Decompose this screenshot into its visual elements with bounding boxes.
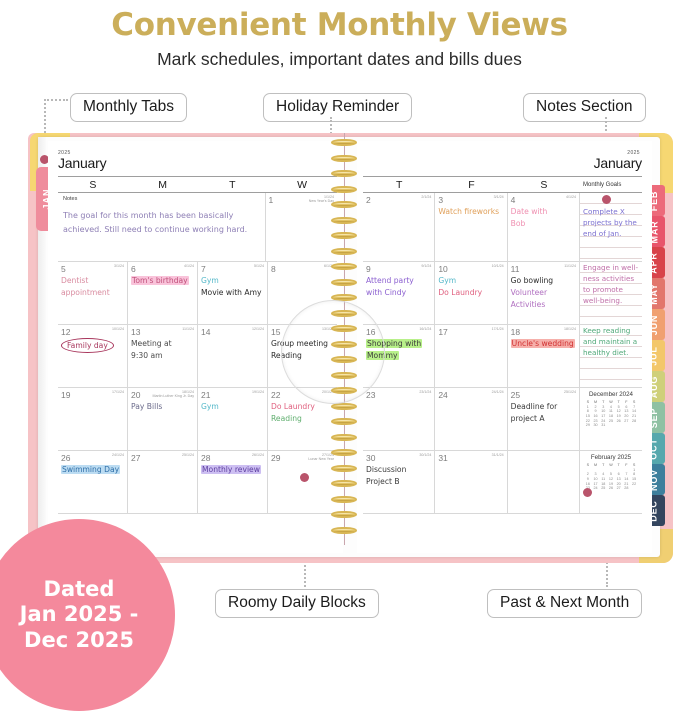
mini-day	[615, 423, 623, 428]
mini-calendar-row: 293031	[584, 423, 638, 428]
lunar-date-and-holiday: 4/1/24	[184, 264, 194, 268]
event-entry: 9:30 am	[131, 350, 194, 361]
lunar-date-and-holiday: 3/1/24	[494, 195, 504, 199]
lunar-date-and-holiday: 3/1/24	[114, 264, 124, 268]
event-entry: Gym	[438, 275, 503, 286]
day-cell[interactable]: 22/1/24	[363, 193, 435, 261]
spiral-ring	[331, 449, 357, 456]
monthly-goals-block[interactable]: Engage in well-ness activitiesto promote…	[580, 262, 642, 324]
lunar-date-and-holiday: 11/1/24	[564, 264, 576, 268]
lunar-date-and-holiday: 26/1/24	[252, 453, 264, 457]
mini-calendar-title: February 2025	[584, 454, 638, 461]
spiral-ring	[331, 496, 357, 503]
event-entry: Discussion	[366, 464, 431, 475]
callout-monthly-tabs: Monthly Tabs	[70, 93, 187, 122]
spiral-ring	[331, 418, 357, 425]
day-cell[interactable]: 2927/1/24Lunar New Year	[268, 451, 337, 513]
badge-line-3: Dec 2025	[20, 628, 139, 653]
lunar-date-and-holiday: 30/1/24	[419, 453, 431, 457]
event-entry: project A	[511, 413, 576, 424]
mini-day: 27	[615, 486, 623, 491]
event-entry: Uncle's wedding	[511, 338, 576, 349]
day-cell[interactable]: 75/1/24GymMovie with Amy	[198, 262, 268, 324]
monthly-goals-header: Monthly Goals	[580, 177, 642, 192]
spiral-ring	[331, 511, 357, 518]
event-entry: Group meeting	[271, 338, 334, 349]
day-cell[interactable]: 1311/1/24Meeting at9:30 am	[128, 325, 198, 387]
event-entry: Do Laundry	[271, 401, 334, 412]
lunar-date-and-holiday: 2/1/24	[421, 195, 431, 199]
dow-T: T	[363, 177, 435, 192]
day-cell[interactable]: 2725/1/24	[128, 451, 198, 513]
event-entry: Swimming Day	[61, 464, 124, 475]
callout-notes-section: Notes Section	[523, 93, 646, 122]
lunar-date-and-holiday: 25/1/24	[182, 453, 194, 457]
goal-text: Complete Xprojects by theend of Jan.	[583, 206, 640, 239]
lunar-date-and-holiday: 10/1/24	[492, 264, 504, 268]
calendar-week-row: 1616/1/24Shopping withMommy1717/1/241818…	[363, 325, 642, 388]
dow-S: S	[508, 177, 580, 192]
mini-calendar-row: 232425262728	[584, 486, 638, 491]
day-cell[interactable]: 2826/1/24Monthly review	[198, 451, 268, 513]
day-cell[interactable]	[508, 451, 580, 513]
page-subtitle: Mark schedules, important dates and bill…	[0, 49, 679, 70]
calendar-right-page: 2025 January TFSMonthly Goals 22/1/2433/…	[357, 141, 652, 553]
calendar-week-row: 22/1/2433/1/24Watch fireworks44/1/24Date…	[363, 193, 642, 262]
mini-day: 26	[607, 486, 615, 491]
badge-line-1: Dated	[20, 577, 139, 602]
callout-roomy-daily-blocks: Roomy Daily Blocks	[215, 589, 379, 618]
spiral-ring	[331, 527, 357, 534]
mini-day	[623, 423, 631, 428]
event-entry: Date with	[511, 206, 576, 217]
day-cell[interactable]: 44/1/24Date withBob	[508, 193, 580, 261]
day-cell[interactable]: 1210/1/24Family day	[58, 325, 128, 387]
calendar-week-row: 1210/1/24Family day1311/1/24Meeting at9:…	[58, 325, 337, 388]
spiral-ring	[331, 155, 357, 162]
event-entry: Gym	[201, 275, 264, 286]
spiral-ring	[331, 186, 357, 193]
right-dow-header: TFSMonthly Goals	[363, 176, 642, 193]
day-cell[interactable]: 1010/1/24GymDo Laundry	[435, 262, 507, 324]
mini-day: 31	[599, 423, 607, 428]
day-cell[interactable]: 53/1/24Dentistappointment	[58, 262, 128, 324]
spiral-ring	[331, 310, 357, 317]
right-page-header: 2025 January	[363, 150, 642, 176]
day-cell[interactable]: 2018/1/24Martin Luther King Jr. DayPay B…	[128, 388, 198, 450]
right-calendar-grid: 22/1/2433/1/24Watch fireworks44/1/24Date…	[363, 193, 642, 514]
mini-calendar: December 2024SMTWTFS12345678910111213141…	[580, 388, 642, 430]
event-entry: Mommy	[366, 350, 431, 361]
event-entry: Dentist	[61, 275, 124, 286]
spiral-ring	[331, 139, 357, 146]
spiral-ring	[331, 387, 357, 394]
event-entry: Go bowling	[511, 275, 576, 286]
spiral-ring	[331, 294, 357, 301]
right-page-month: January	[363, 156, 642, 171]
spiral-ring	[331, 248, 357, 255]
event-entry: Do Laundry	[438, 287, 503, 298]
mini-calendar-block[interactable]: December 2024SMTWTFS12345678910111213141…	[580, 388, 642, 450]
left-page-month: January	[58, 156, 337, 171]
day-cell[interactable]: 86/1/24	[268, 262, 337, 324]
day-cell[interactable]: 2525/1/24Deadline forproject A	[508, 388, 580, 450]
lunar-date-and-holiday: 18/1/24Martin Luther King Jr. Day	[152, 390, 194, 399]
calendar-week-row: 99/1/24Attend partywith Cindy1010/1/24Gy…	[363, 262, 642, 325]
calendar-week-row: 53/1/24Dentistappointment64/1/24Tom's bi…	[58, 262, 337, 325]
calendar-week-row: 3030/1/24DiscussionProject B3131/1/24Feb…	[363, 451, 642, 514]
event-entry: Volunteer	[511, 287, 576, 298]
day-cell[interactable]: 3030/1/24DiscussionProject B	[363, 451, 435, 513]
lunar-date-and-holiday: 17/1/24	[112, 390, 124, 394]
day-cell[interactable]: 99/1/24Attend partywith Cindy	[363, 262, 435, 324]
event-entry: Deadline for	[511, 401, 576, 412]
mini-calendar: February 2025SMTWTFS12345678910111213141…	[580, 451, 642, 493]
event-entry: Movie with Amy	[201, 287, 264, 298]
dow-M: M	[128, 177, 198, 192]
event-entry: with Cindy	[366, 287, 431, 298]
spiral-ring	[331, 325, 357, 332]
mini-day	[630, 423, 638, 428]
mini-calendar-title: December 2024	[584, 391, 638, 398]
event-entry: Project B	[366, 476, 431, 487]
lunar-date-and-holiday: 12/1/24	[252, 327, 264, 331]
left-page-header: 2025 January	[58, 150, 337, 176]
mini-day: 24	[592, 486, 600, 491]
dow-W: W	[267, 177, 337, 192]
pointer-dot-past-next-month	[583, 488, 592, 497]
day-cell[interactable]: 1717/1/24	[435, 325, 507, 387]
day-cell[interactable]: 1818/1/24Uncle's wedding	[508, 325, 580, 387]
lunar-date-and-holiday: 31/1/24	[492, 453, 504, 457]
lunar-date-and-holiday: 10/1/24	[112, 327, 124, 331]
callout-past-next-month: Past & Next Month	[487, 589, 642, 618]
day-cell[interactable]: 2220/1/24Do LaundryReading	[268, 388, 337, 450]
lunar-date-and-holiday: 9/1/24	[421, 264, 431, 268]
spiral-ring	[331, 263, 357, 270]
calendar-week-row: 2624/1/24Swimming Day2725/1/242826/1/24M…	[58, 451, 337, 514]
lunar-date-and-holiday: 5/1/24	[254, 264, 264, 268]
event-entry: Pay Bills	[131, 401, 194, 412]
day-cell[interactable]: 2119/1/24Gym	[198, 388, 268, 450]
callout-holiday-reminder: Holiday Reminder	[263, 93, 412, 122]
calendar-left-page: 2025 January SMTW NotesThe goal for this…	[48, 141, 343, 553]
day-cell[interactable]: 11/1/24New Year's Day	[266, 193, 338, 261]
lunar-date-and-holiday: 25/1/24	[564, 390, 576, 394]
event-entry: Attend party	[366, 275, 431, 286]
event-entry: Meeting at	[131, 338, 194, 349]
day-cell[interactable]: 2323/1/24	[363, 388, 435, 450]
day-cell[interactable]: 2424/1/24	[435, 388, 507, 450]
spiral-ring	[331, 356, 357, 363]
lunar-date-and-holiday: 23/1/24	[419, 390, 431, 394]
mini-day: 25	[599, 486, 607, 491]
goal-text: Keep readingand maintain ahealthy diet.	[583, 325, 640, 358]
spiral-ring	[331, 372, 357, 379]
event-entry: Monthly review	[201, 464, 264, 475]
mini-calendar-table: SMTWTFS123456789101112131415161718192021…	[584, 400, 638, 428]
event-entry: Activities	[511, 299, 576, 310]
event-entry: Bob	[511, 218, 576, 229]
spiral-ring	[331, 480, 357, 487]
left-calendar-grid: NotesThe goal for this month has been ba…	[58, 193, 337, 514]
calendar-week-row: 2323/1/242424/1/242525/1/24Deadline forp…	[363, 388, 642, 451]
spiral-ring	[331, 232, 357, 239]
spiral-ring	[331, 170, 357, 177]
lunar-date-and-holiday: 19/1/24	[252, 390, 264, 394]
spiral-ring	[331, 201, 357, 208]
mini-day: 29	[584, 423, 592, 428]
lunar-date-and-holiday: 4/1/24	[566, 195, 576, 199]
day-cell[interactable]: 64/1/24Tom's birthday	[128, 262, 198, 324]
leader-line-monthly-tabs-h	[44, 99, 68, 101]
event-entry: Watch fireworks	[438, 206, 503, 217]
spiral-ring	[331, 434, 357, 441]
notes-text: The goal for this month has been basical…	[63, 209, 260, 238]
spiral-ring	[331, 403, 357, 410]
planner-book: JAN FEBMARAPRMAYJUNJULAUGSEPOCTNOVDEC 20…	[28, 133, 673, 563]
left-dow-header: SMTW	[58, 176, 337, 193]
day-cell[interactable]: 1616/1/24Shopping withMommy	[363, 325, 435, 387]
day-cell[interactable]: 1412/1/24	[198, 325, 268, 387]
spiral-ring	[331, 465, 357, 472]
pointer-dot-notes-section	[602, 195, 611, 204]
day-cell[interactable]: 2624/1/24Swimming Day	[58, 451, 128, 513]
event-entry: Shopping with	[366, 338, 431, 349]
dow-S: S	[58, 177, 128, 192]
day-cell[interactable]: 33/1/24Watch fireworks	[435, 193, 507, 261]
day-cell[interactable]: 1513/1/24Group meetingReading	[268, 325, 337, 387]
notes-block[interactable]: NotesThe goal for this month has been ba…	[58, 193, 266, 261]
goal-text: Engage in well-ness activitiesto promote…	[583, 262, 640, 306]
mini-day	[630, 486, 638, 491]
mini-day	[607, 423, 615, 428]
event-entry: Reading	[271, 413, 334, 424]
spiral-ring	[331, 341, 357, 348]
lunar-date-and-holiday: 24/1/24	[492, 390, 504, 394]
monthly-goals-block[interactable]: Complete Xprojects by theend of Jan.	[580, 193, 642, 261]
event-entry: Reading	[271, 350, 334, 361]
event-entry: Gym	[201, 401, 264, 412]
event-entry: Family day	[61, 338, 124, 353]
day-cell[interactable]: 3131/1/24	[435, 451, 507, 513]
page-title: Convenient Monthly Views	[0, 7, 679, 43]
lunar-date-and-holiday: 11/1/24	[182, 327, 194, 331]
dow-T: T	[198, 177, 268, 192]
mini-calendar-block[interactable]: February 2025SMTWTFS12345678910111213141…	[580, 451, 642, 513]
notes-label: Notes	[63, 196, 260, 202]
spiral-ring	[331, 217, 357, 224]
event-entry: appointment	[61, 287, 124, 298]
mini-calendar-table: SMTWTFS123456789101112131415161718192021…	[584, 463, 638, 491]
mini-day: 28	[623, 486, 631, 491]
dow-F: F	[435, 177, 507, 192]
lunar-date-and-holiday: 16/1/24	[419, 327, 431, 331]
lunar-date-and-holiday: 18/1/24	[564, 327, 576, 331]
day-cell[interactable]: 1917/1/24	[58, 388, 128, 450]
calendar-week-row: NotesThe goal for this month has been ba…	[58, 193, 337, 262]
lunar-date-and-holiday: 24/1/24	[112, 453, 124, 457]
spiral-binding	[331, 133, 357, 545]
pointer-dot-roomy-daily-blocks	[300, 473, 309, 482]
event-entry: Tom's birthday	[131, 275, 194, 286]
badge-line-2: Jan 2025 -	[20, 602, 139, 627]
monthly-goals-block[interactable]: Keep readingand maintain ahealthy diet.	[580, 325, 642, 387]
mini-day: 30	[592, 423, 600, 428]
day-cell[interactable]: 1111/1/24Go bowlingVolunteerActivities	[508, 262, 580, 324]
spiral-ring	[331, 279, 357, 286]
lunar-date-and-holiday: 17/1/24	[492, 327, 504, 331]
calendar-week-row: 1917/1/242018/1/24Martin Luther King Jr.…	[58, 388, 337, 451]
